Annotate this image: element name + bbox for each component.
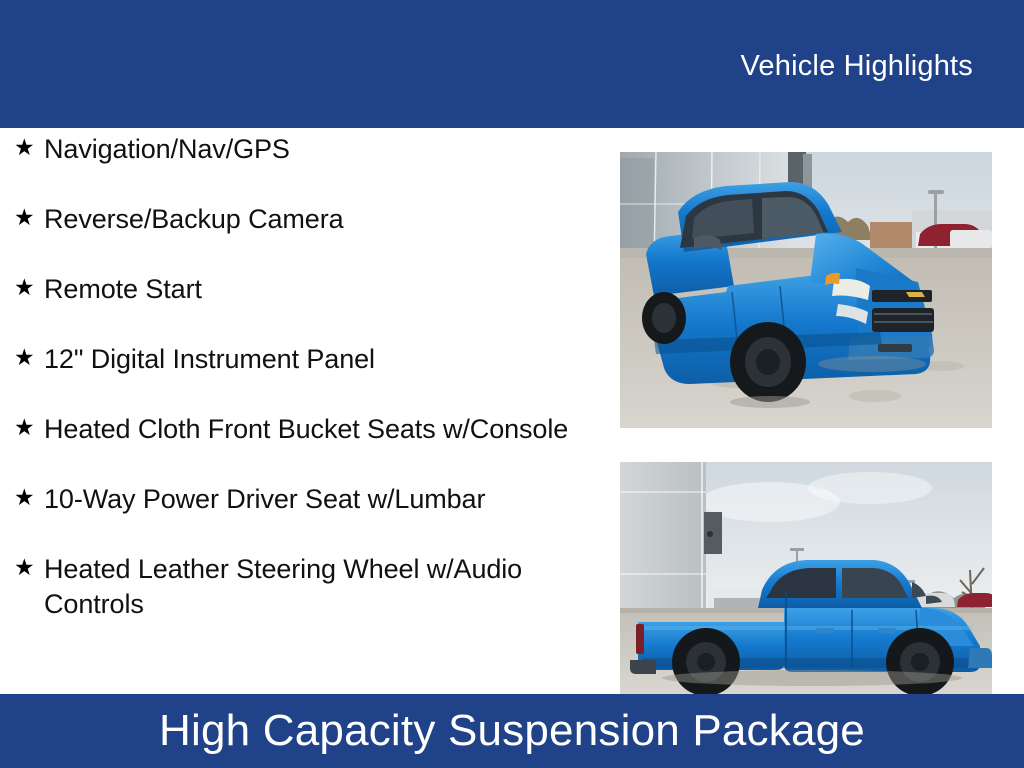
list-item: ★ Heated Leather Steering Wheel w/Audio … [0, 548, 600, 618]
vehicle-photo-side-profile [620, 462, 992, 694]
list-item-label: Heated Leather Steering Wheel w/Audio Co… [44, 548, 600, 622]
list-item: ★ 10-Way Power Driver Seat w/Lumbar [0, 478, 600, 548]
vehicle-photo-front-three-quarter [620, 152, 992, 428]
package-title: High Capacity Suspension Package [159, 709, 865, 753]
truck-side-illustration [620, 462, 992, 694]
vehicle-highlights-list: ★ Navigation/Nav/GPS ★ Reverse/Backup Ca… [0, 128, 600, 618]
list-item: ★ 12" Digital Instrument Panel [0, 338, 600, 408]
list-item: ★ Remote Start [0, 268, 600, 338]
list-item-label: 12" Digital Instrument Panel [44, 338, 600, 377]
list-item: ★ Navigation/Nav/GPS [0, 128, 600, 198]
star-icon: ★ [14, 198, 44, 237]
list-item-label: Navigation/Nav/GPS [44, 128, 600, 167]
star-icon: ★ [14, 548, 44, 587]
star-icon: ★ [14, 478, 44, 517]
header-banner: Vehicle Highlights [0, 0, 1024, 128]
main-content: ★ Navigation/Nav/GPS ★ Reverse/Backup Ca… [0, 128, 1024, 694]
truck-front-illustration [620, 152, 992, 428]
star-icon: ★ [14, 268, 44, 307]
list-item-label: Reverse/Backup Camera [44, 198, 600, 237]
page-title: Vehicle Highlights [740, 50, 973, 83]
list-item: ★ Heated Cloth Front Bucket Seats w/Cons… [0, 408, 600, 478]
list-item: ★ Reverse/Backup Camera [0, 198, 600, 268]
star-icon: ★ [14, 408, 44, 447]
list-item-label: 10-Way Power Driver Seat w/Lumbar [44, 478, 600, 517]
footer-banner: High Capacity Suspension Package [0, 694, 1024, 768]
star-icon: ★ [14, 128, 44, 167]
list-item-label: Heated Cloth Front Bucket Seats w/Consol… [44, 408, 600, 447]
list-item-label: Remote Start [44, 268, 600, 307]
star-icon: ★ [14, 338, 44, 377]
